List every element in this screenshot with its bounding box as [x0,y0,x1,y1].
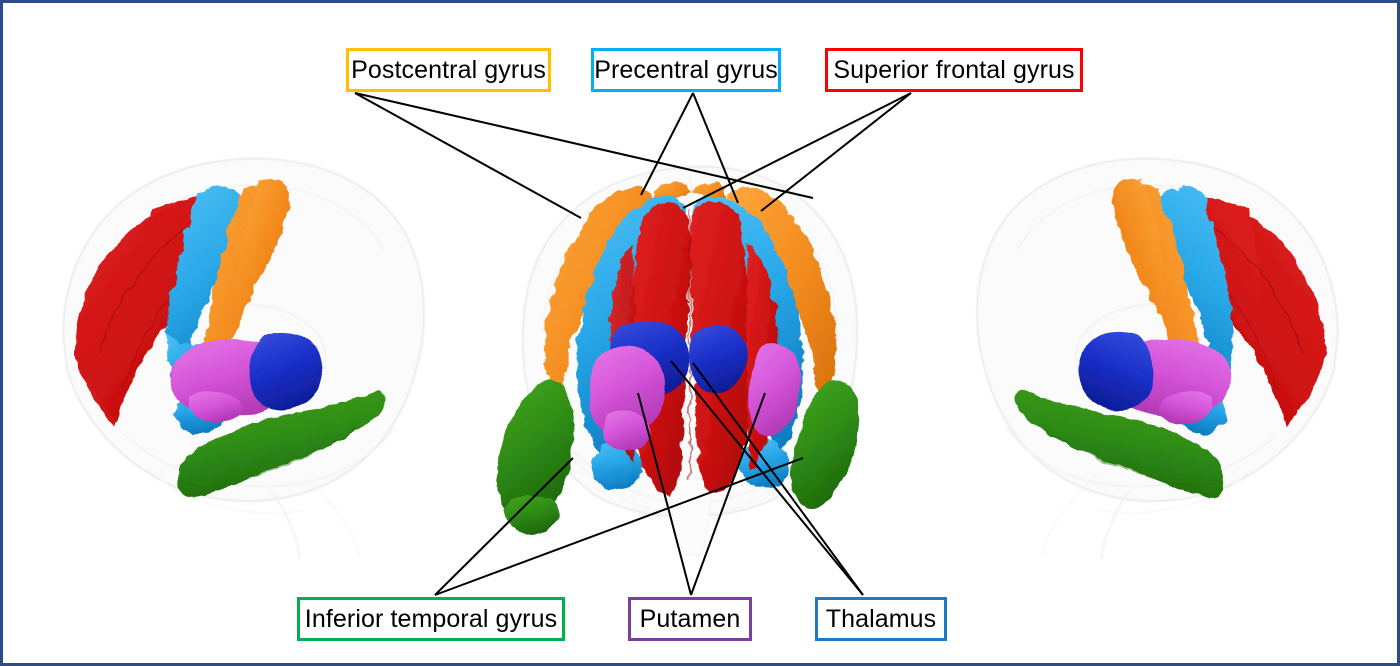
label-thalamus[interactable]: Thalamus [815,597,947,641]
label-inferior-temporal-gyrus[interactable]: Inferior temporal gyrus [297,597,565,641]
label-putamen[interactable]: Putamen [628,597,752,641]
brain-view-anterior [496,167,859,555]
label-precentral-gyrus[interactable]: Precentral gyrus [591,48,781,92]
brain-renderings [3,3,1400,666]
label-postcentral-gyrus[interactable]: Postcentral gyrus [346,48,551,92]
label-superior-frontal-gyrus[interactable]: Superior frontal gyrus [825,48,1083,92]
brain-view-left-sagittal [63,159,424,559]
figure-panel: Postcentral gyrus Precentral gyrus Super… [0,0,1400,666]
brain-view-right-sagittal [977,159,1338,559]
